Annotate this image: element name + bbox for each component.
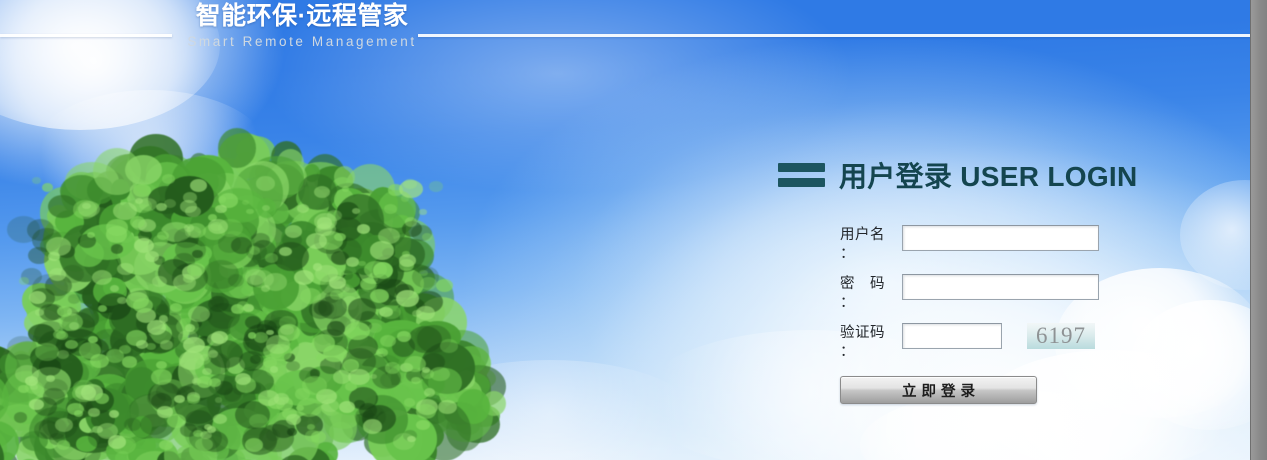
login-page: 智能环保·远程管家 Smart Remote Management 用户登录 U… <box>0 0 1267 460</box>
password-label-text: 密 码 <box>840 276 885 292</box>
username-label: 用户名 ： <box>840 225 902 264</box>
equals-bars-icon <box>778 163 825 187</box>
captcha-row: 验证码 ： 6197 <box>840 323 1145 362</box>
username-input[interactable] <box>902 225 1099 251</box>
login-panel: 用户登录 USER LOGIN 用户名 ： 密 码 ： 验证码 <box>778 155 1148 404</box>
brand-logo: 智能环保·远程管家 Smart Remote Management <box>186 4 418 49</box>
brand-title-en: Smart Remote Management <box>186 35 418 49</box>
login-form: 用户名 ： 密 码 ： 验证码 ： 6197 <box>840 225 1145 404</box>
header-divider-right <box>418 34 1254 37</box>
brand-title-cn: 智能环保·远程管家 <box>186 4 418 29</box>
captcha-image[interactable]: 6197 <box>1027 323 1095 349</box>
password-input[interactable] <box>902 274 1099 300</box>
captcha-label-text: 验证码 <box>840 325 885 341</box>
username-row: 用户名 ： <box>840 225 1145 264</box>
page-scrollbar[interactable] <box>1250 0 1267 460</box>
username-label-text: 用户名 <box>840 227 885 243</box>
submit-row: 立即登录 <box>840 376 1145 404</box>
username-label-colon: ： <box>840 245 902 264</box>
password-label-colon: ： <box>840 294 902 313</box>
captcha-label-colon: ： <box>840 343 902 362</box>
captcha-label: 验证码 ： <box>840 323 902 362</box>
login-title: 用户登录 USER LOGIN <box>839 155 1138 195</box>
login-button[interactable]: 立即登录 <box>840 376 1037 404</box>
captcha-input[interactable] <box>902 323 1002 349</box>
scrollbar-track[interactable] <box>1251 0 1267 460</box>
header-divider-left <box>0 34 172 37</box>
password-label: 密 码 ： <box>840 274 902 313</box>
login-header: 用户登录 USER LOGIN <box>778 155 1148 195</box>
password-row: 密 码 ： <box>840 274 1145 313</box>
